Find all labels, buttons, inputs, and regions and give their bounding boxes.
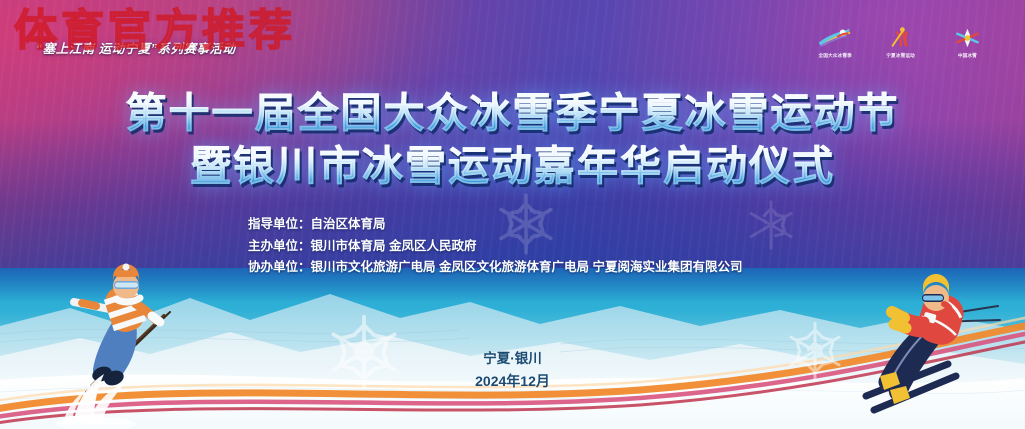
winter-sports-event-banner: 全国大众冰雪季 宁夏冰雪运动 中国冰雪 “塞上江南 运动宁夏”系列赛事活动 体育… <box>0 0 1025 429</box>
logo-national-mass-ice-snow-season[interactable]: 全国大众冰雪季 <box>815 26 855 59</box>
winter-sports-icon <box>883 26 920 50</box>
logo-caption: 全国大众冰雪季 <box>818 52 851 58</box>
skier-right-figure <box>848 272 1008 422</box>
logo-caption: 中国冰雪 <box>957 52 976 58</box>
title-line-1: 第十一届全国大众冰雪季宁夏冰雪运动节 <box>0 88 1025 139</box>
location-date-block: 宁夏·银川 2024年12月 <box>0 348 1025 392</box>
logo-ningxia-winter-sports[interactable]: 宁夏冰雪运动 <box>881 26 921 59</box>
date-text: 2024年12月 <box>0 370 1025 392</box>
organizer-coorganizer: 协办单位：银川市文化旅游广电局 金凤区文化旅游体育广电局 宁夏阅海实业集团有限公… <box>248 257 742 279</box>
logo-china-ice-snow[interactable]: 中国冰雪 <box>947 26 987 59</box>
main-title: 第十一届全国大众冰雪季宁夏冰雪运动节 暨银川市冰雪运动嘉年华启动仪式 <box>0 88 1025 193</box>
china-ice-snow-icon <box>949 26 986 50</box>
organizer-list: 指导单位：自治区体育局 主办单位：银川市体育局 金凤区人民政府 协办单位：银川市… <box>248 214 742 279</box>
ice-snow-season-icon <box>815 26 856 50</box>
location-text: 宁夏·银川 <box>0 348 1025 370</box>
organizer-guidance: 指导单位：自治区体育局 <box>248 214 742 236</box>
title-line-2: 暨银川市冰雪运动嘉年华启动仪式 <box>0 141 1025 192</box>
partner-logos: 全国大众冰雪季 宁夏冰雪运动 中国冰雪 <box>815 26 987 59</box>
red-watermark-text: 体育官方推荐 <box>14 0 296 58</box>
logo-caption: 宁夏冰雪运动 <box>887 52 916 58</box>
organizer-host: 主办单位：银川市体育局 金凤区人民政府 <box>248 236 742 258</box>
